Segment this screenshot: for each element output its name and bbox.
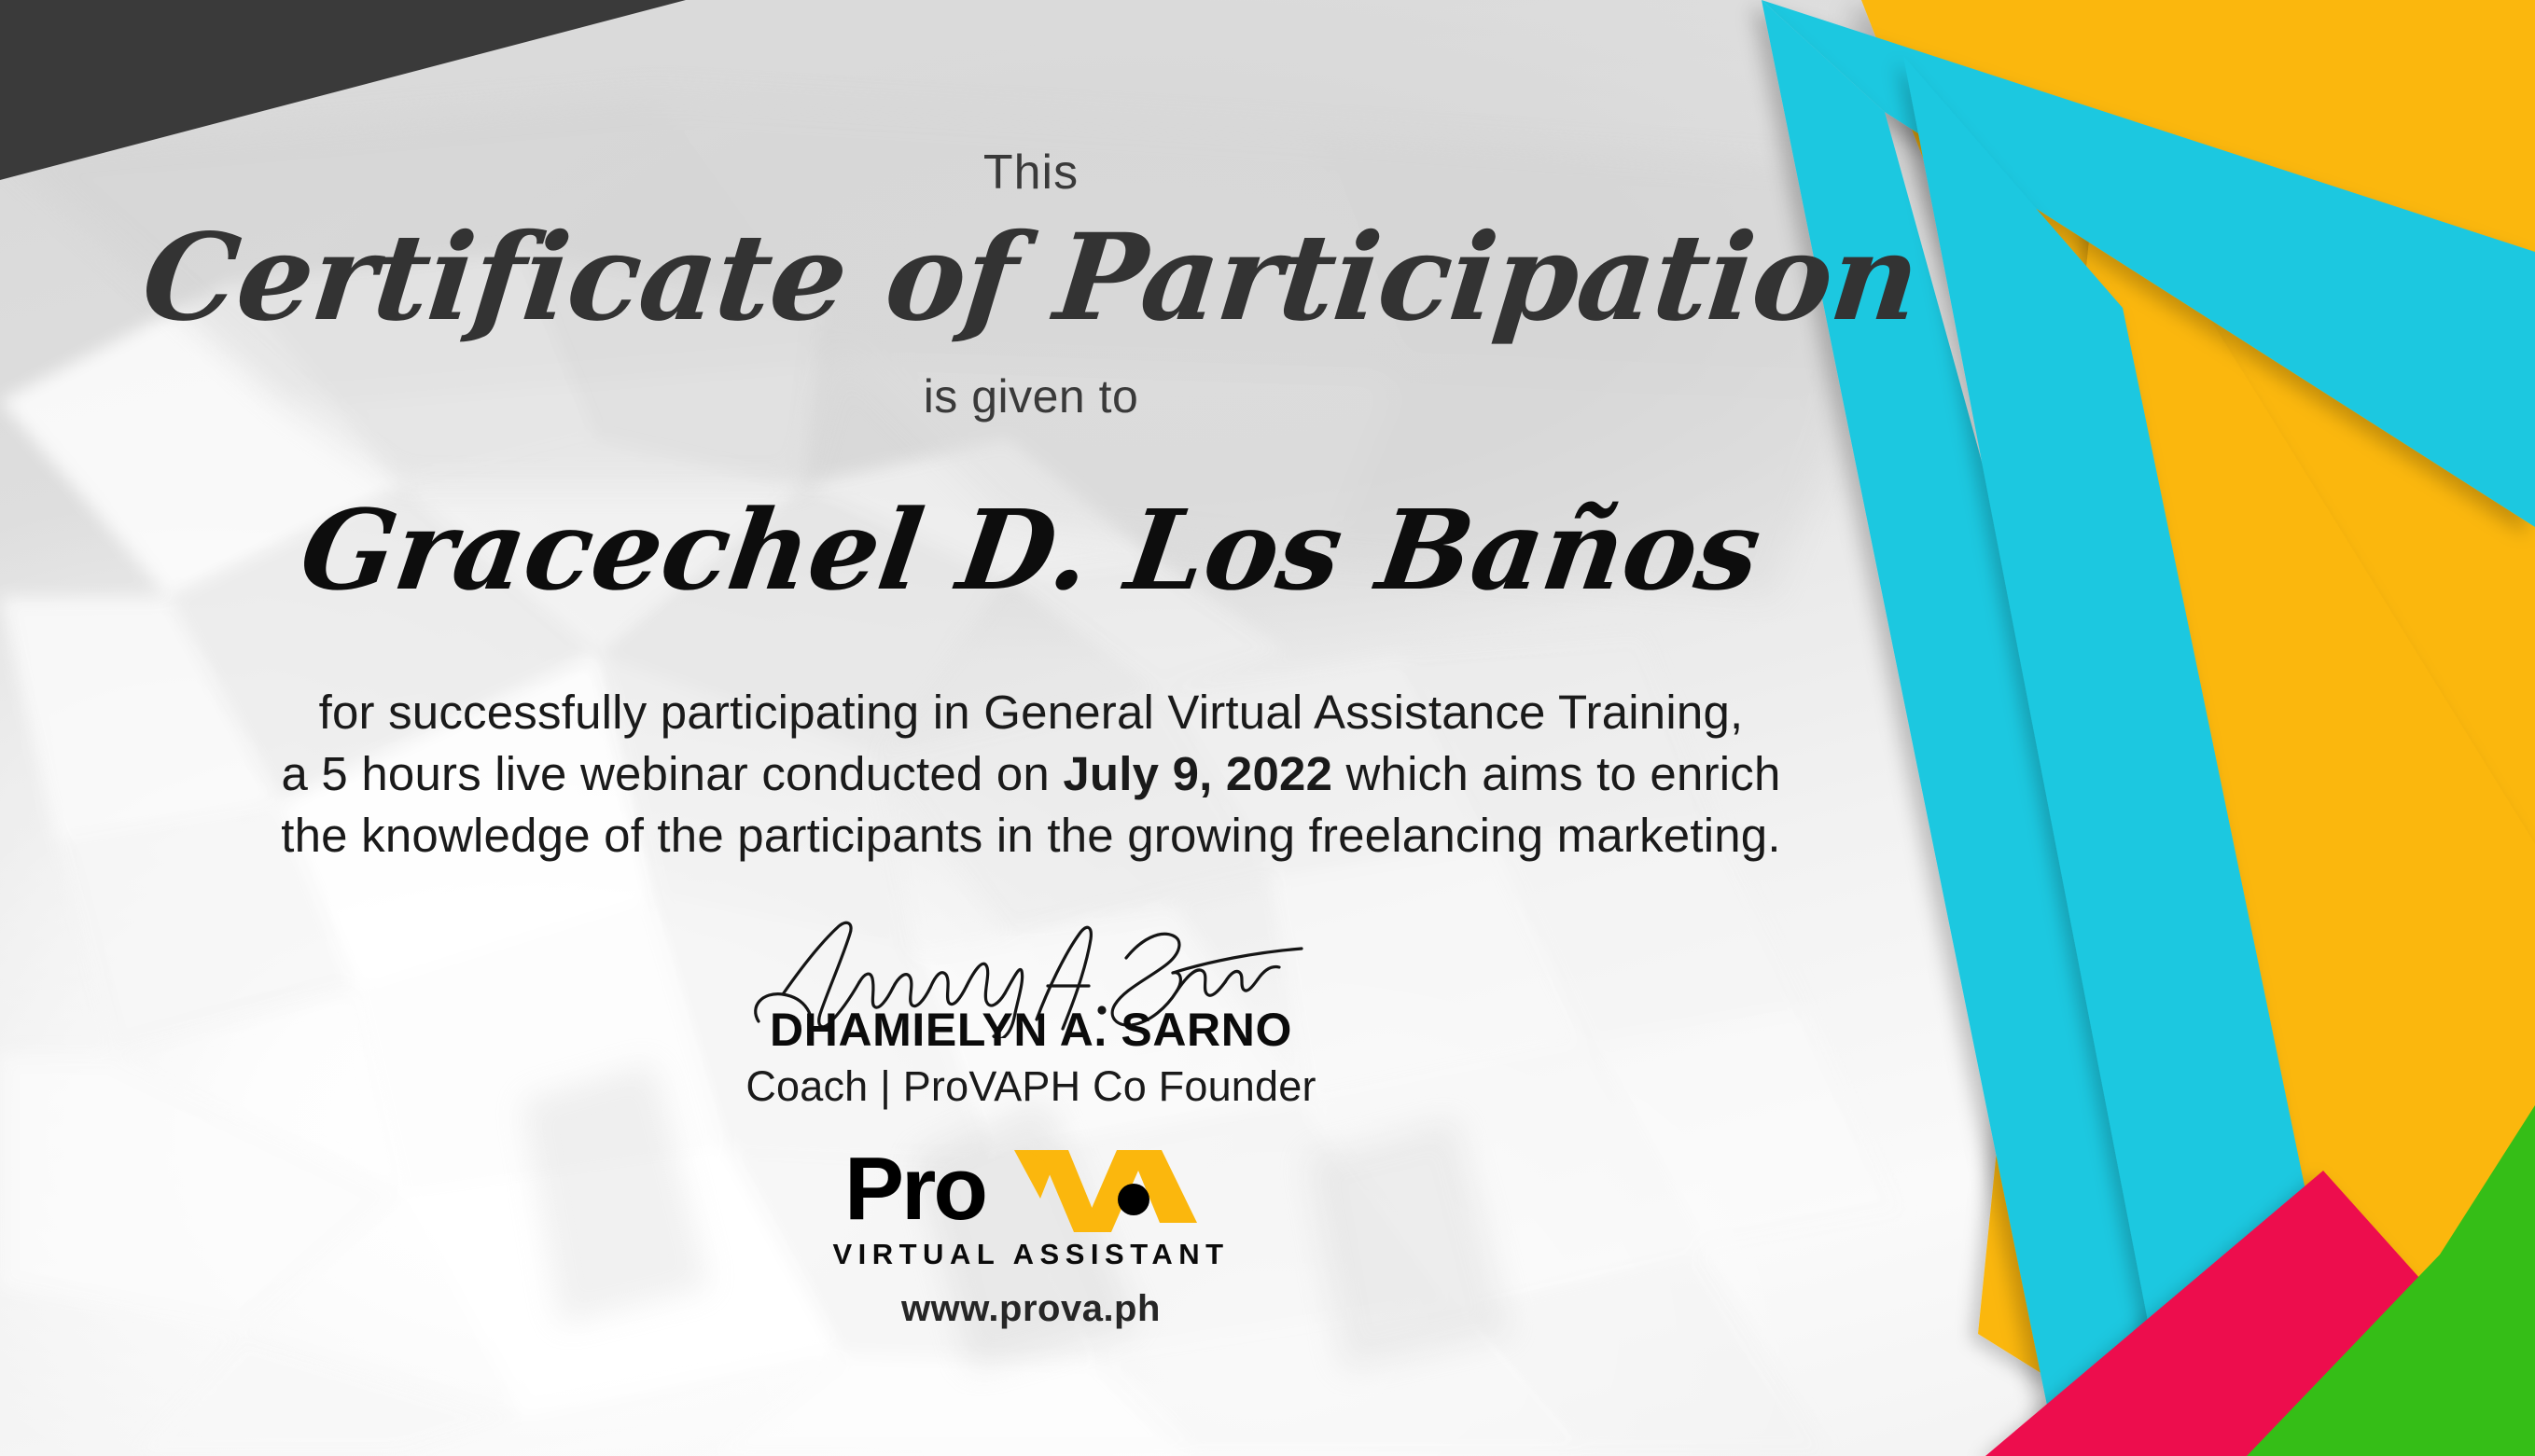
- body-line-2: a 5 hours live webinar conducted on July…: [281, 743, 1780, 805]
- webinar-date: July 9, 2022: [1063, 747, 1332, 800]
- certificate-body-text: for successfully participating in Genera…: [281, 682, 1780, 867]
- logo-tagline: VIRTUAL ASSISTANT: [832, 1238, 1229, 1271]
- intro-text: This: [983, 145, 1079, 201]
- logo-word-pro: Pro: [844, 1146, 985, 1236]
- body-line-2-pre: a 5 hours live webinar conducted on: [281, 747, 1063, 800]
- corner-shape-charcoal: [0, 0, 686, 180]
- logo-dot-icon: [1118, 1184, 1149, 1215]
- signatory-name: DHAMIELYN A. SARNO: [770, 1003, 1292, 1057]
- certificate-title: Certificate of Participation: [137, 217, 1924, 340]
- logo-website-url: www.prova.ph: [901, 1288, 1161, 1330]
- certificate-canvas: This Certificate of Participation is giv…: [0, 0, 2535, 1456]
- body-line-1: for successfully participating in Genera…: [281, 682, 1780, 743]
- body-line-3: the knowledge of the participants in the…: [281, 805, 1780, 867]
- signatory-role: Coach | ProVAPH Co Founder: [745, 1062, 1316, 1111]
- signature-block: DHAMIELYN A. SARNO Coach | ProVAPH Co Fo…: [742, 917, 1320, 1111]
- prova-logo: Pro VIRTUAL ASSISTANT www.prova.ph: [832, 1146, 1229, 1330]
- recipient-name: Gracechel D. Los Baños: [293, 485, 1768, 615]
- prova-logo-mark: Pro: [844, 1146, 1218, 1236]
- body-line-2-post: which aims to enrich: [1332, 747, 1780, 800]
- given-to-label: is given to: [924, 369, 1139, 423]
